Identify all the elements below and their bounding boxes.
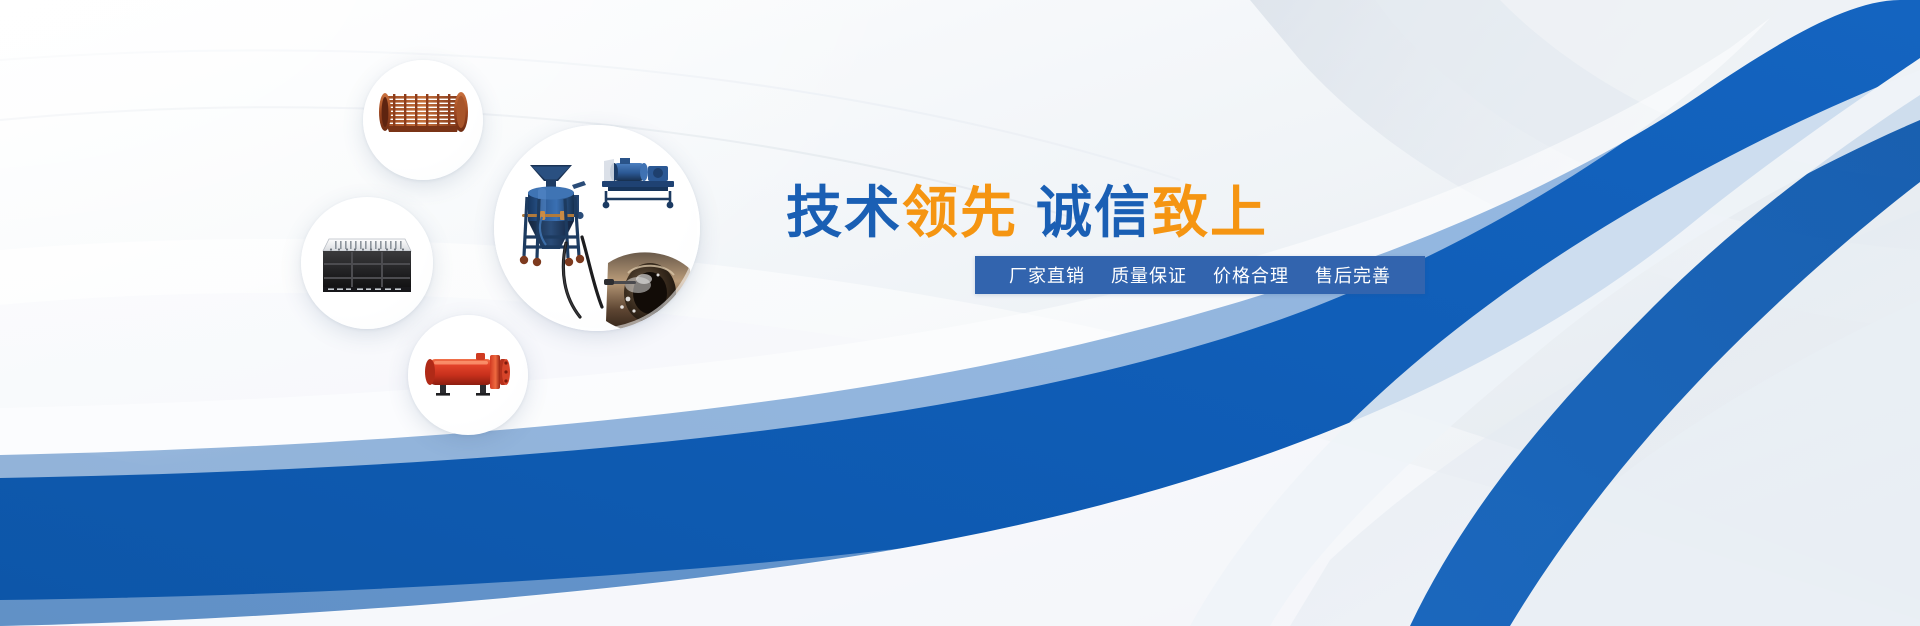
product-circle-red-heat-exchanger: [408, 315, 528, 435]
headline-segment-1: 技术: [786, 181, 902, 246]
product-circle-plate-cooler-grid: [301, 197, 433, 329]
headline-segment-3: 诚信: [1036, 181, 1152, 246]
feature-item-3: 价格合理: [1213, 262, 1289, 288]
banner-headline: 技术领先诚信致上: [786, 186, 1268, 242]
feature-item-1: 厂家直销: [1009, 262, 1085, 288]
copper-tube-bundle-icon: [363, 60, 483, 180]
feature-item-2: 质量保证: [1111, 262, 1187, 288]
feature-item-4: 售后完善: [1315, 262, 1391, 288]
product-circle-copper-tube-bundle: [363, 60, 483, 180]
plate-cooler-grid-icon: [301, 197, 433, 329]
headline-segment-4: 致上: [1152, 181, 1268, 246]
feature-bar: 厂家直销 质量保证 价格合理 售后完善: [975, 256, 1425, 294]
sandblast-tank-and-pump-icon: [494, 125, 700, 331]
product-circle-sandblast-cleaning-unit: [494, 125, 700, 331]
promo-banner: 技术领先诚信致上 厂家直销 质量保证 价格合理 售后完善: [0, 0, 1920, 626]
background-swoosh-graphics: [0, 0, 1920, 626]
headline-segment-2: 领先: [902, 181, 1018, 246]
banner-background: [0, 0, 1920, 626]
red-heat-exchanger-icon: [408, 315, 528, 435]
feature-bar-items: 厂家直销 质量保证 价格合理 售后完善: [1009, 262, 1391, 288]
